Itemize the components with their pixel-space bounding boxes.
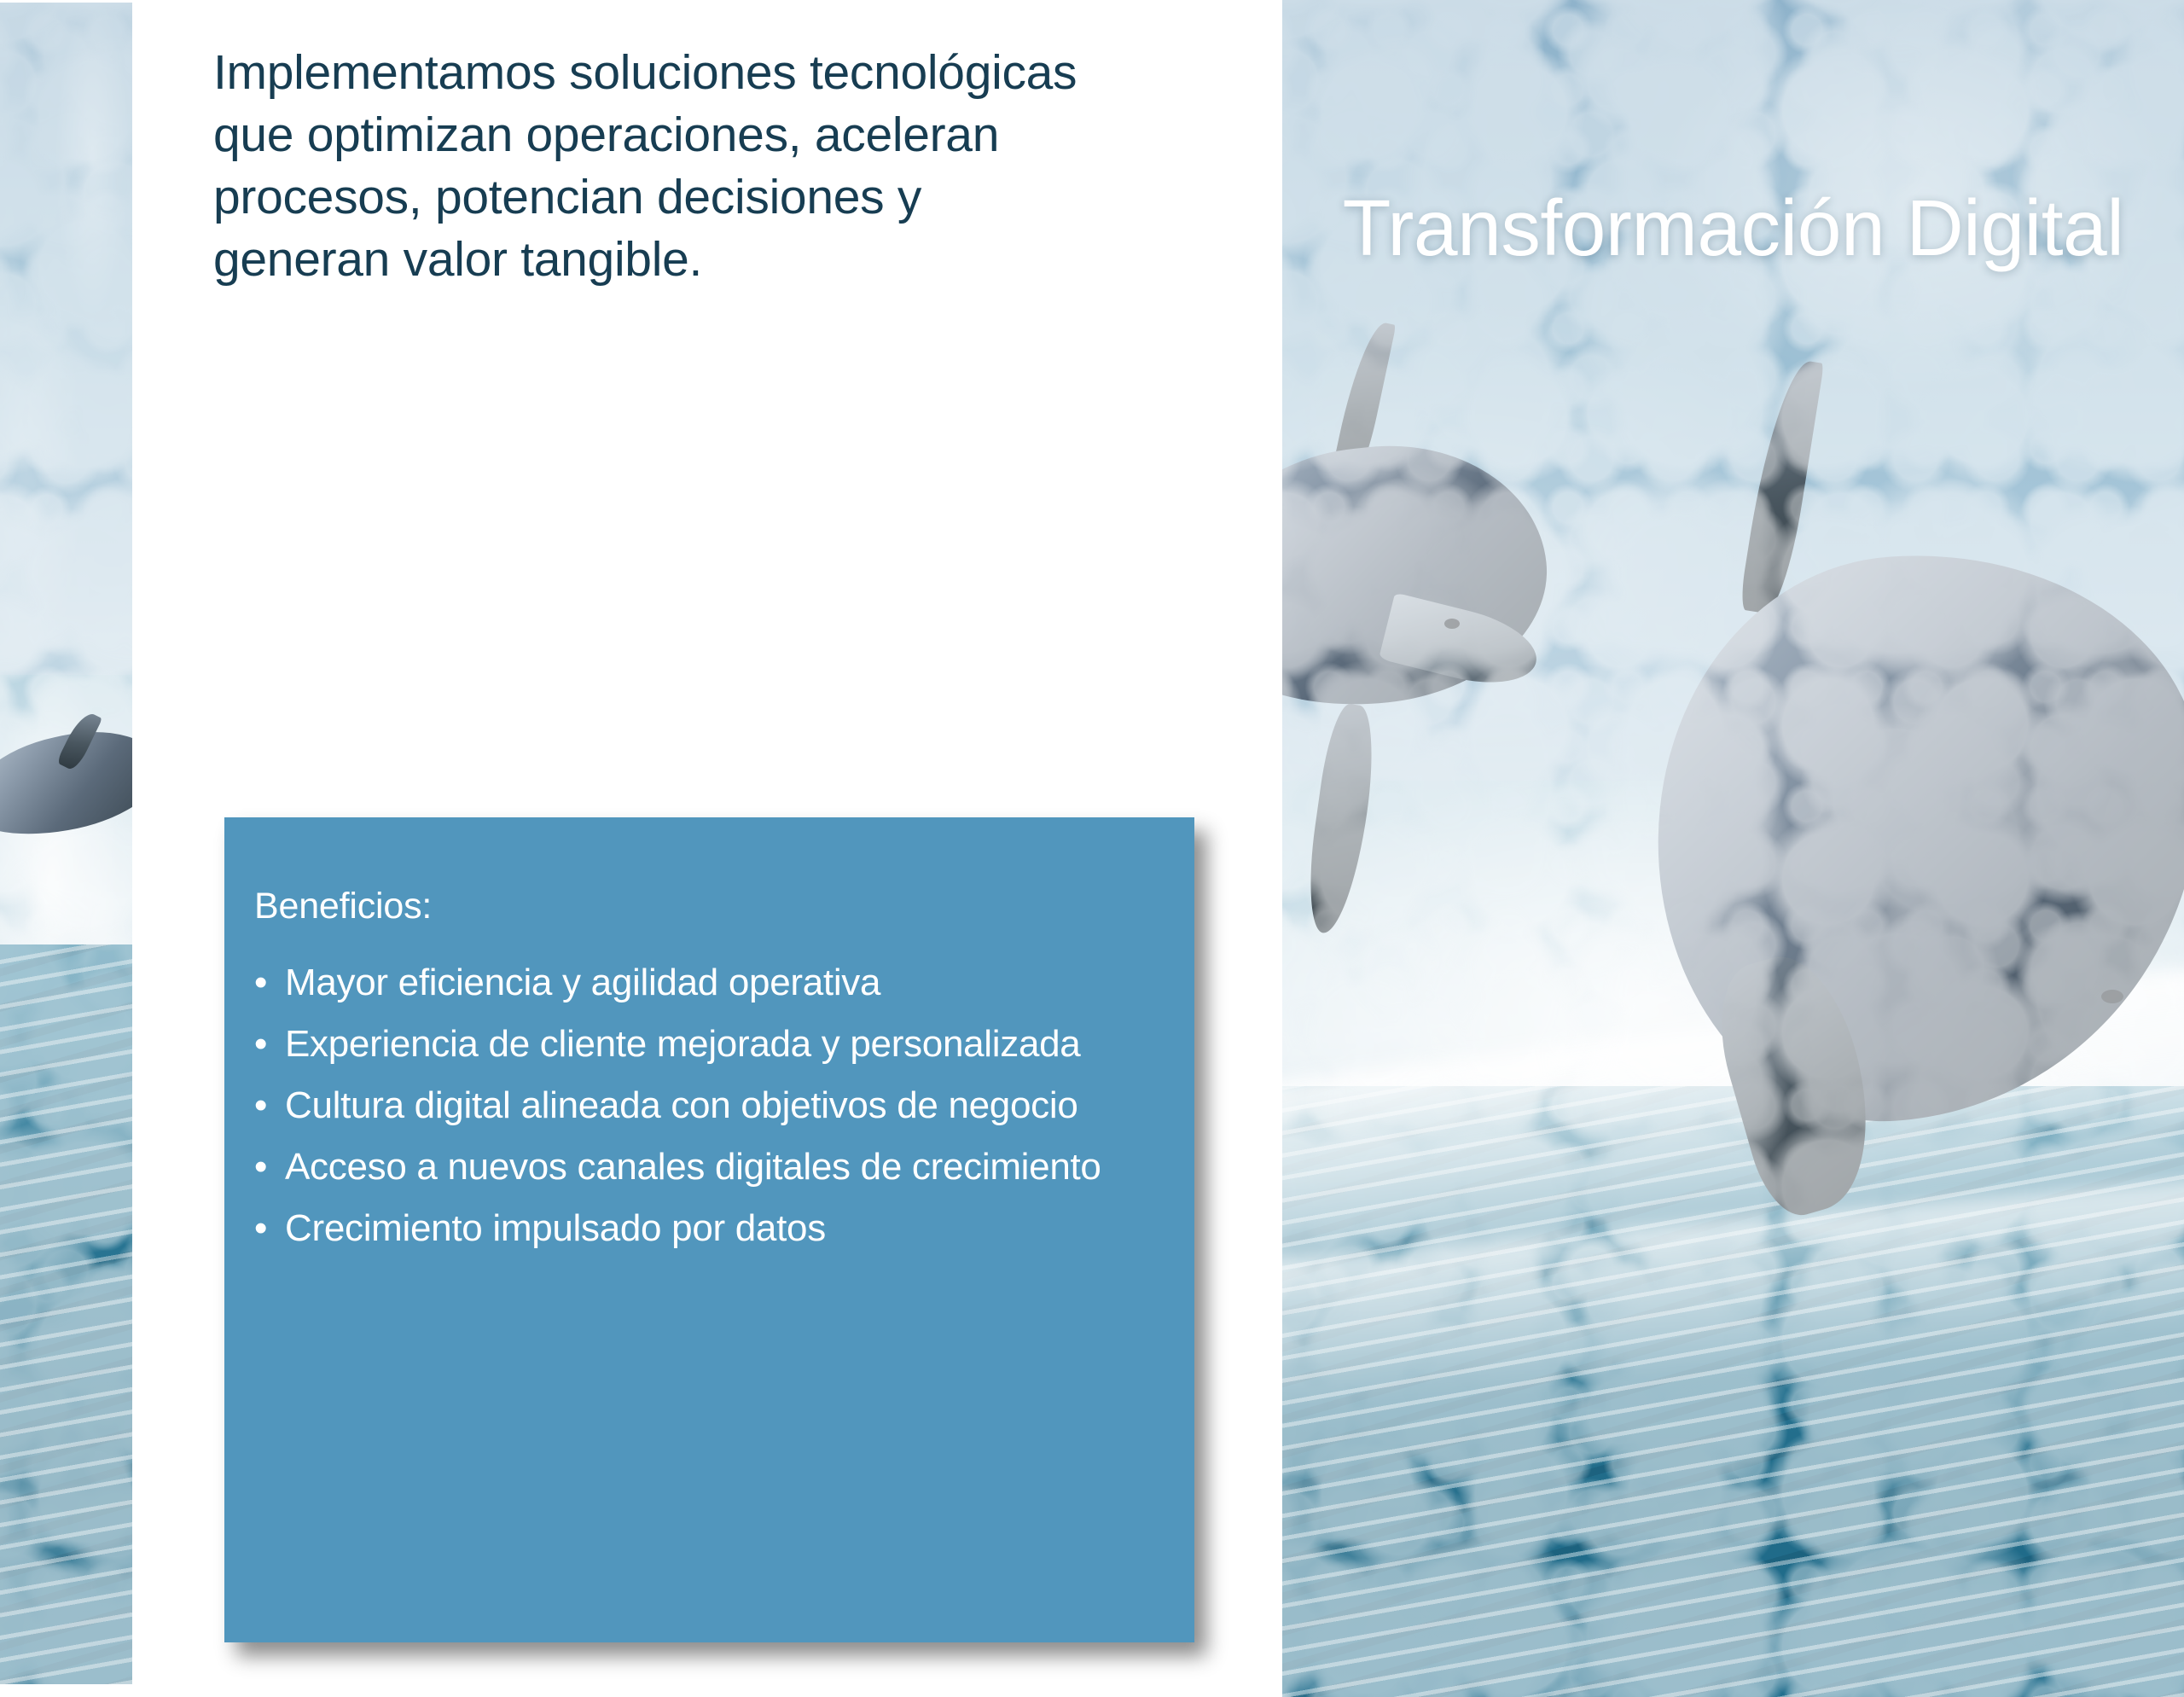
strip-dolphin bbox=[0, 719, 132, 847]
benefit-item-label: Experiencia de cliente mejorada y person… bbox=[285, 1023, 1080, 1065]
benefit-item-label: Crecimiento impulsado por datos bbox=[285, 1207, 826, 1249]
right-photo-panel: Transformación Digital bbox=[1282, 0, 2184, 1697]
strip-dolphin-body bbox=[0, 717, 132, 849]
bullet-icon: • bbox=[254, 1075, 267, 1136]
bullet-icon: • bbox=[254, 1198, 267, 1259]
page-title: Transformación Digital bbox=[1282, 181, 2184, 275]
content-column: Implementamos soluciones tecnológicas qu… bbox=[132, 0, 1282, 1697]
body-paragraph: Implementamos soluciones tecnológicas qu… bbox=[213, 42, 1092, 291]
benefits-list: • Mayor eficiencia y agilidad operativa … bbox=[254, 952, 1160, 1259]
benefit-item: • Acceso a nuevos canales digitales de c… bbox=[254, 1136, 1160, 1198]
benefits-card: Beneficios: • Mayor eficiencia y agilida… bbox=[224, 817, 1194, 1642]
left-photo-strip bbox=[0, 3, 132, 1684]
benefit-item: • Crecimiento impulsado por datos bbox=[254, 1198, 1160, 1259]
benefits-title: Beneficios: bbox=[254, 884, 1160, 928]
bullet-icon: • bbox=[254, 952, 267, 1014]
benefit-item: • Cultura digital alineada con objetivos… bbox=[254, 1075, 1160, 1136]
bullet-icon: • bbox=[254, 1014, 267, 1075]
benefit-item-label: Acceso a nuevos canales digitales de cre… bbox=[285, 1146, 1101, 1188]
benefit-item-label: Mayor eficiencia y agilidad operativa bbox=[285, 962, 880, 1003]
benefit-item: • Experiencia de cliente mejorada y pers… bbox=[254, 1014, 1160, 1075]
benefit-item-label: Cultura digital alineada con objetivos d… bbox=[285, 1084, 1078, 1126]
benefit-item: • Mayor eficiencia y agilidad operativa bbox=[254, 952, 1160, 1014]
bullet-icon: • bbox=[254, 1136, 267, 1198]
